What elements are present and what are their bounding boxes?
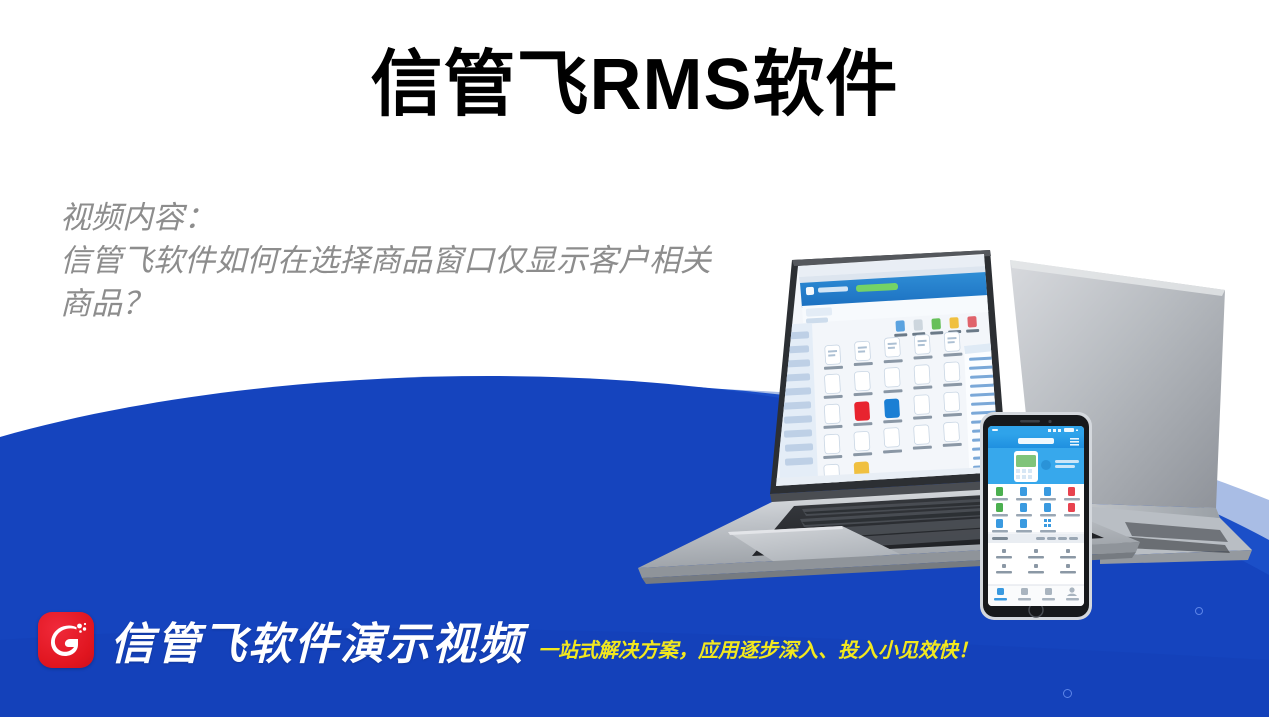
device-cluster xyxy=(580,250,1269,650)
page-title: 信管飞RMS软件 xyxy=(0,48,1269,124)
phone-screen-content xyxy=(988,426,1084,606)
subtitle-lead: 视频内容： xyxy=(60,196,720,239)
footer-bar: 信管飞软件演示视频 一站式解决方案，应用逐步深入、投入小见效快！ xyxy=(0,600,1269,680)
footer-tagline: 一站式解决方案，应用逐步深入、投入小见效快！ xyxy=(538,634,978,663)
footer-brand-title: 信管飞软件演示视频 xyxy=(110,608,524,672)
logo-bird-glyph xyxy=(51,626,78,657)
laptop-screen-content xyxy=(770,250,1010,500)
brand-logo-icon xyxy=(38,612,94,668)
device-illustration xyxy=(580,250,1269,650)
slide-root: 信管飞RMS软件 视频内容： 信管飞软件如何在选择商品窗口仅显示客户相关商品？ xyxy=(0,0,1269,717)
decor-dot-2 xyxy=(1063,689,1072,698)
phone-device xyxy=(980,412,1092,620)
hamburger-icon[interactable] xyxy=(1070,438,1079,446)
